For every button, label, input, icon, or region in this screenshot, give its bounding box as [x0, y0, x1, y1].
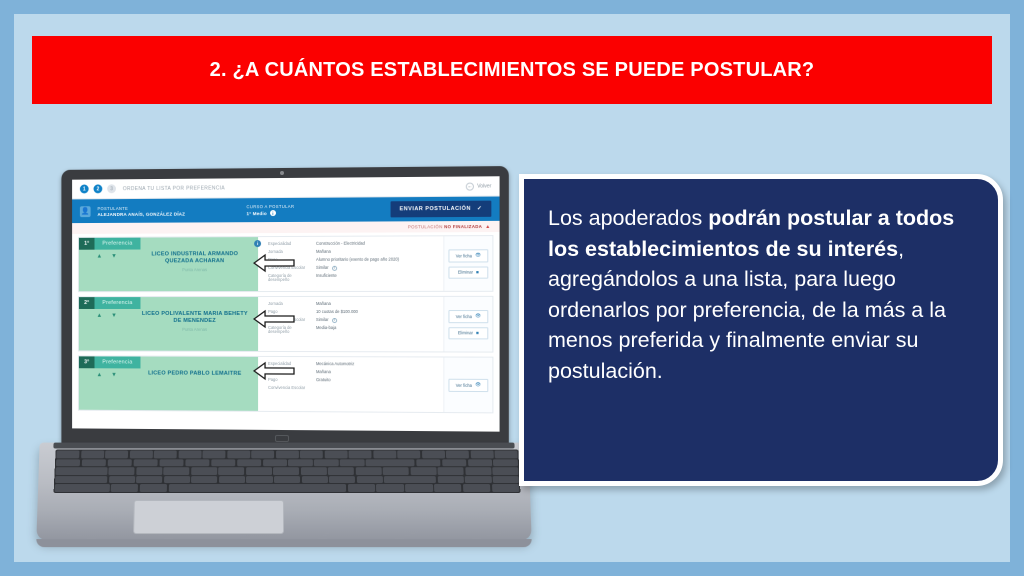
webcam-icon	[280, 171, 284, 175]
preference-card-details: Jornada Pago Convivencia Escolar Categor…	[258, 297, 443, 352]
laptop-screen: 1 2 3 ORDENA TU LISTA POR PREFERENCIA ← …	[72, 176, 499, 431]
preference-card-details: Especialidad Jornada Pago Convivencia Es…	[258, 357, 443, 412]
slide-canvas: 2. ¿A CUÁNTOS ESTABLECIMIENTOS SE PUEDE …	[14, 14, 1010, 562]
eye-icon: 👁	[475, 382, 481, 388]
applicant-label: POSTULANTE	[97, 205, 185, 211]
applicant-name: ALEJANDRA ANAÍS, GONZÁLEZ DÍAZ	[97, 211, 185, 216]
step-2[interactable]: 2	[94, 184, 103, 193]
school-name: LICEO INDUSTRIAL ARMANDO QUEZADA ACHARAN	[139, 251, 250, 265]
value-categoria: Insuficiente	[316, 274, 437, 279]
preference-card[interactable]: 1° Preferencia ▲ ▼ LICEO INDUSTRIAL ARMA…	[78, 235, 493, 292]
value-jornada: Mañana	[316, 302, 437, 307]
keyboard-row	[55, 467, 518, 475]
course-label: CURSO A POSTULAR	[247, 204, 295, 209]
reorder-controls[interactable]: ▲ ▼	[96, 313, 116, 319]
label-categoria: Categoría de desempeño	[268, 274, 308, 283]
eliminar-label: Eliminar	[458, 270, 473, 275]
status-badge: POSTULACIÓN NO FINALIZADA	[408, 224, 482, 229]
preference-rank: 1°	[79, 238, 95, 250]
info-icon[interactable]: i	[254, 240, 261, 247]
value-jornada: Mañana	[316, 370, 437, 375]
eye-icon: 👁	[475, 313, 481, 319]
app-stepper-bar: 1 2 3 ORDENA TU LISTA POR PREFERENCIA ← …	[72, 176, 499, 199]
arrow-up-icon[interactable]: ▲	[96, 372, 102, 378]
page-title: 2. ¿A CUÁNTOS ESTABLECIMIENTOS SE PUEDE …	[210, 59, 815, 82]
status-strong: NO FINALIZADA	[444, 224, 482, 229]
detail-values: Mecánica Automotriz Mañana Gratuito	[316, 362, 437, 407]
arrow-down-icon[interactable]: ▼	[111, 372, 117, 378]
alert-icon: ▲	[485, 223, 490, 229]
ver-ficha-button[interactable]: Ver ficha 👁	[448, 378, 488, 391]
preference-card-actions: Ver ficha 👁	[443, 358, 492, 413]
step-indicator: 1 2 3	[80, 184, 116, 193]
arrow-up-icon[interactable]: ▲	[96, 254, 102, 260]
school-block: LICEO INDUSTRIAL ARMANDO QUEZADA ACHARAN…	[139, 251, 250, 291]
school-name: LICEO PEDRO PABLO LEMAITRE	[139, 370, 250, 377]
description-panel: Los apoderados podrán postular a todos l…	[519, 174, 1003, 486]
value-convivencia: Similar	[316, 318, 329, 323]
course-value: 1° Medio	[247, 211, 267, 216]
label-jornada: Jornada	[268, 302, 308, 307]
arrow-down-icon[interactable]: ▼	[111, 254, 117, 260]
course-value-row: 1° Medio i	[247, 210, 295, 216]
keyboard-row	[55, 476, 519, 484]
label-pago: Pago	[268, 310, 308, 315]
school-name: LICEO POLIVALENTE MARIA BEHETY DE MENEND…	[139, 311, 250, 325]
school-city: Punta Arenas	[139, 267, 250, 272]
laptop-base	[36, 443, 531, 540]
eliminar-label: Eliminar	[458, 330, 473, 335]
preference-card-actions: Ver ficha 👁 Eliminar ■	[443, 236, 492, 291]
ver-ficha-button[interactable]: Ver ficha 👁	[448, 249, 488, 262]
preference-card[interactable]: 2° Preferencia ▲ ▼ LICEO POLIVALENTE MAR…	[78, 296, 493, 353]
value-pago: 10 cuotas de $100.000	[316, 310, 437, 315]
label-pago: Pago	[268, 378, 308, 383]
step-title: ORDENA TU LISTA POR PREFERENCIA	[123, 185, 225, 192]
preference-card-actions: Ver ficha 👁 Eliminar ■	[443, 297, 492, 352]
preference-tag: 1° Preferencia	[79, 238, 140, 250]
preference-card-left: 1° Preferencia ▲ ▼ LICEO INDUSTRIAL ARMA…	[79, 237, 258, 291]
detail-values: Mañana 10 cuotas de $100.000 Similar i M…	[316, 302, 437, 346]
label-convivencia: Convivencia Escolar	[268, 266, 308, 271]
label-jornada: Jornada	[268, 250, 308, 255]
value-convivencia-row: Similar i	[316, 318, 437, 324]
value-especialidad: Construcción - Electricidad	[316, 241, 437, 246]
step-3[interactable]: 3	[107, 184, 116, 193]
keyboard-row	[56, 459, 518, 466]
submit-button-label: ENVIAR POSTULACIÓN	[400, 206, 471, 212]
arrow-left-icon: ←	[466, 182, 474, 190]
reorder-controls[interactable]: ▲ ▼	[96, 372, 116, 378]
user-icon: 👤	[80, 206, 91, 217]
trash-icon: ■	[476, 330, 479, 335]
preference-list: 1° Preferencia ▲ ▼ LICEO INDUSTRIAL ARMA…	[72, 232, 499, 413]
check-icon: ✓	[477, 206, 482, 212]
eliminar-button[interactable]: Eliminar ■	[448, 266, 488, 278]
school-city	[139, 379, 250, 380]
info-icon[interactable]: i	[332, 318, 338, 324]
value-especialidad: Mecánica Automotriz	[316, 362, 437, 367]
laptop-image: 1 2 3 ORDENA TU LISTA POR PREFERENCIA ← …	[32, 154, 592, 564]
arrow-up-icon[interactable]: ▲	[96, 313, 102, 319]
eliminar-button[interactable]: Eliminar ■	[448, 327, 488, 339]
laptop-keyboard	[54, 450, 521, 493]
preference-card-details: i Especialidad Jornada Pago Convivencia …	[258, 236, 443, 291]
submit-button[interactable]: ENVIAR POSTULACIÓN ✓	[390, 201, 491, 218]
postulation-app: 1 2 3 ORDENA TU LISTA POR PREFERENCIA ← …	[72, 176, 499, 431]
eye-icon: 👁	[475, 252, 481, 258]
back-link[interactable]: ← Volver	[466, 182, 491, 190]
school-city: Punta Arenas	[139, 327, 250, 332]
label-convivencia: Convivencia Escolar	[268, 386, 308, 391]
value-convivencia-row: Similar i	[316, 265, 437, 271]
preference-rank: 2°	[79, 297, 95, 309]
step-1[interactable]: 1	[80, 184, 89, 193]
keyboard-row	[55, 484, 520, 492]
label-convivencia: Convivencia Escolar	[268, 318, 308, 323]
info-icon[interactable]: i	[270, 210, 276, 216]
keyboard-row	[56, 451, 517, 458]
label-especialidad: Especialidad	[268, 242, 308, 247]
preference-tag: 2° Preferencia	[79, 297, 140, 309]
description-text: Los apoderados podrán postular a todos l…	[548, 203, 964, 386]
label-especialidad: Especialidad	[268, 362, 308, 367]
label-jornada: Jornada	[268, 370, 308, 375]
value-categoria: Media-baja	[316, 327, 437, 332]
preference-label: Preferencia	[95, 297, 141, 309]
laptop-hinge	[53, 443, 514, 449]
reorder-controls[interactable]: ▲ ▼	[96, 254, 116, 260]
value-pago: Gratuito	[316, 378, 437, 383]
ver-ficha-button[interactable]: Ver ficha 👁	[448, 310, 488, 323]
brand-logo	[275, 434, 289, 441]
laptop-base-front	[36, 539, 532, 547]
preference-label: Preferencia	[95, 238, 141, 250]
title-banner: 2. ¿A CUÁNTOS ESTABLECIMIENTOS SE PUEDE …	[32, 36, 992, 104]
value-pago: Alumno prioritario (exento de pago año 2…	[316, 257, 437, 262]
arrow-down-icon[interactable]: ▼	[111, 313, 117, 319]
applicant-block: POSTULANTE ALEJANDRA ANAÍS, GONZÁLEZ DÍA…	[97, 205, 185, 216]
preference-card-left: 3° Preferencia ▲ ▼ LICEO PEDRO PABLO LEM…	[79, 356, 258, 410]
school-block: LICEO POLIVALENTE MARIA BEHETY DE MENEND…	[139, 311, 250, 351]
preference-tag: 3° Preferencia	[79, 356, 140, 368]
trackpad[interactable]	[133, 500, 284, 534]
ver-ficha-label: Ver ficha	[456, 382, 472, 387]
detail-labels: Especialidad Jornada Pago Convivencia Es…	[268, 362, 308, 406]
applicant-bar: 👤 POSTULANTE ALEJANDRA ANAÍS, GONZÁLEZ D…	[72, 197, 499, 224]
back-link-label: Volver	[477, 183, 491, 189]
detail-values: Construcción - Electricidad Mañana Alumn…	[316, 241, 437, 286]
info-icon[interactable]: i	[332, 266, 338, 272]
trash-icon: ■	[476, 270, 479, 275]
preference-label: Preferencia	[95, 356, 141, 368]
preference-card[interactable]: 3° Preferencia ▲ ▼ LICEO PEDRO PABLO LEM…	[78, 355, 493, 413]
preference-card-left: 2° Preferencia ▲ ▼ LICEO POLIVALENTE MAR…	[79, 297, 258, 351]
value-jornada: Mañana	[316, 249, 437, 254]
label-pago: Pago	[268, 258, 308, 263]
preference-rank: 3°	[79, 356, 95, 368]
laptop-lid: 1 2 3 ORDENA TU LISTA POR PREFERENCIA ← …	[61, 166, 508, 448]
value-convivencia: Similar	[316, 266, 329, 271]
label-categoria: Categoría de desempeño	[268, 326, 308, 335]
ver-ficha-label: Ver ficha	[456, 314, 472, 319]
detail-labels: Especialidad Jornada Pago Convivencia Es…	[268, 242, 308, 286]
ver-ficha-label: Ver ficha	[456, 253, 472, 258]
course-block: CURSO A POSTULAR 1° Medio i	[247, 204, 295, 216]
detail-labels: Jornada Pago Convivencia Escolar Categor…	[268, 302, 308, 346]
school-block: LICEO PEDRO PABLO LEMAITRE	[139, 370, 250, 410]
